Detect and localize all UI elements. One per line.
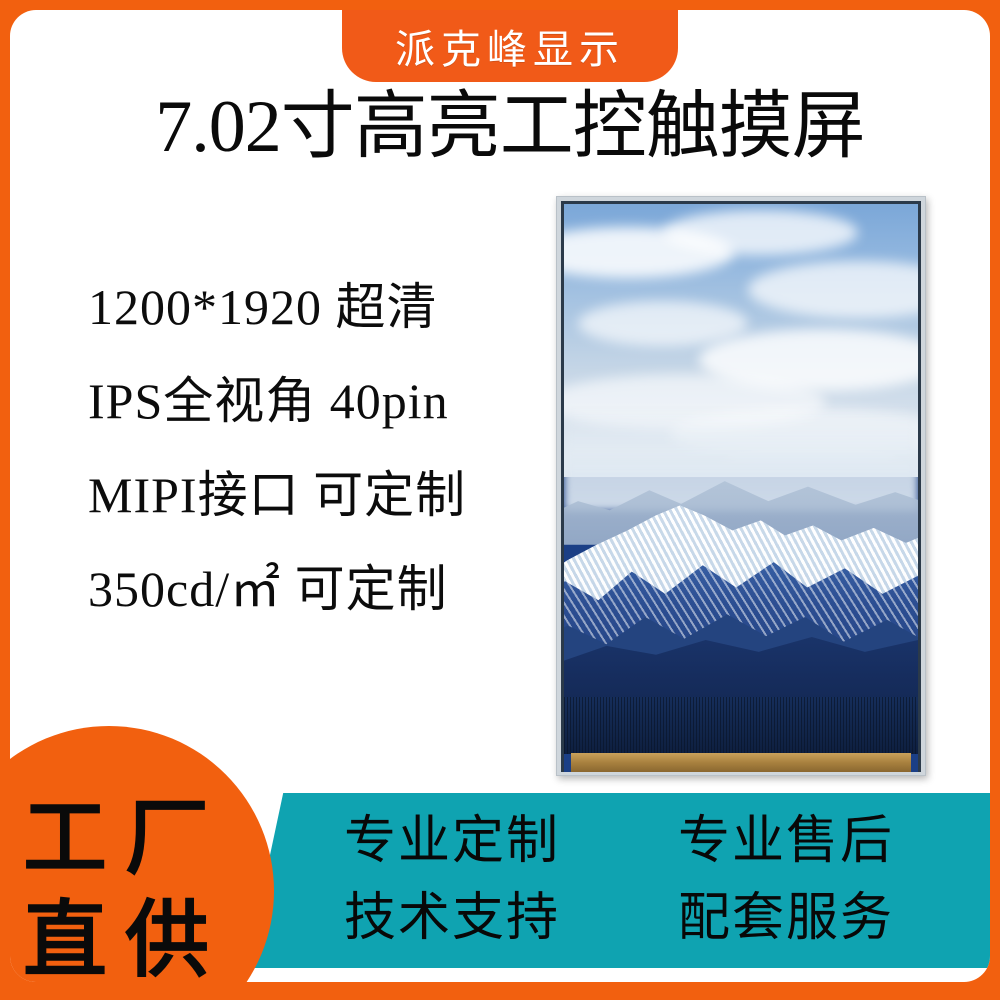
factory-direct-badge: 工 厂 直 供: [10, 726, 274, 982]
service-item-matching-service: 配套服务: [654, 882, 964, 956]
badge-char-chang: 厂: [118, 792, 216, 890]
flex-cable-strip: [571, 753, 911, 772]
cloud-shape: [578, 301, 748, 346]
service-grid: 专业定制 专业售后 技术支持 配套服务: [344, 803, 964, 958]
service-item-aftersales: 专业售后: [654, 805, 964, 879]
brand-tab: 派克峰显示: [342, 10, 678, 82]
spec-resolution: 1200*1920 超清: [88, 260, 558, 354]
spec-viewing-angle: IPS全视角 40pin: [88, 354, 558, 448]
poster-inner-sheet: 派克峰显示 7.02寸高亮工控触摸屏 1200*1920 超清 IPS全视角 4…: [10, 10, 990, 982]
factory-badge-grid: 工 厂 直 供: [16, 792, 216, 982]
cloud-shape: [663, 210, 858, 255]
badge-char-gong: 工: [16, 792, 114, 890]
forest-region: [564, 697, 918, 754]
page-title: 7.02寸高亮工控触摸屏: [10, 84, 990, 170]
spec-brightness: 350cd/㎡ 可定制: [88, 542, 558, 636]
spec-interface: MIPI接口 可定制: [88, 448, 558, 542]
spec-list: 1200*1920 超清 IPS全视角 40pin MIPI接口 可定制 350…: [88, 260, 558, 636]
badge-char-gong2: 供: [118, 894, 216, 982]
service-item-tech-support: 技术支持: [344, 882, 654, 956]
service-item-custom: 专业定制: [344, 805, 654, 879]
lcd-panel-photo: [556, 196, 926, 776]
brand-name-label: 派克峰显示: [395, 17, 625, 75]
lcd-screen-image: [564, 204, 918, 772]
product-poster: 派克峰显示 7.02寸高亮工控触摸屏 1200*1920 超清 IPS全视角 4…: [0, 0, 1000, 1000]
service-banner: 专业定制 专业售后 技术支持 配套服务: [246, 793, 990, 968]
badge-char-zhi: 直: [16, 894, 114, 982]
lcd-bezel: [561, 201, 921, 772]
